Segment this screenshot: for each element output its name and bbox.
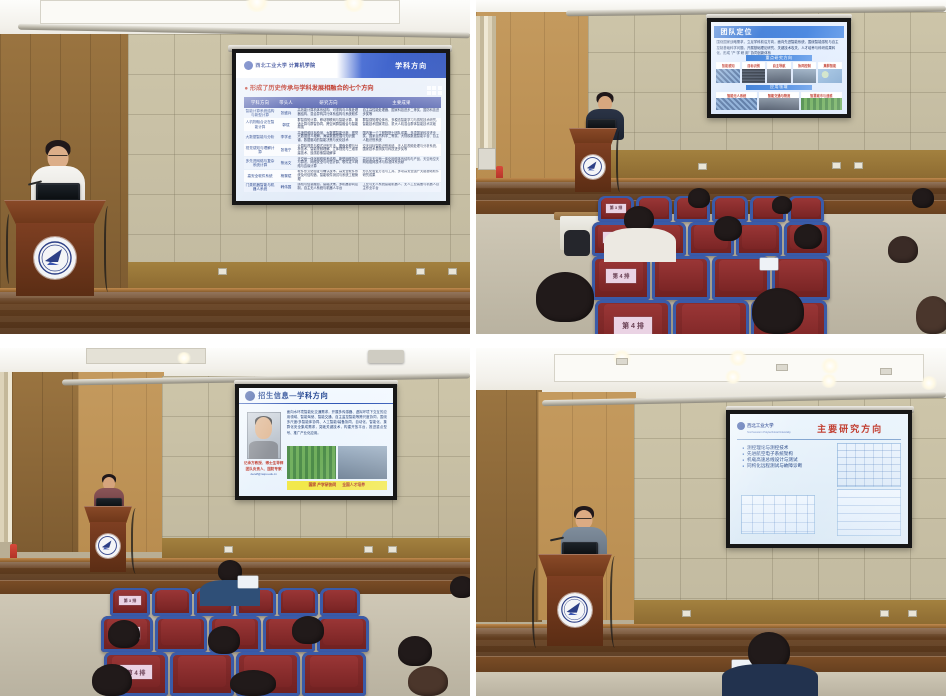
cell-direction: 人机物融合泛在智能计算	[244, 118, 275, 130]
radar-sensing-panel-icon	[716, 69, 740, 83]
audience-head	[92, 664, 132, 696]
photo-collage: 西北工业大学 计算机学院 学科方向 ● 形成了历史传承与学科发展相融合的七个方向…	[0, 0, 946, 696]
table-row: 智能计算系统结构与新型计算 张盛兵 高效能计算机体系结构、可重构与众核处理器结构…	[244, 108, 439, 117]
audience-shoulder	[722, 664, 818, 696]
slide-title: 主要研究方向	[817, 422, 883, 435]
screen-surface: 招生信息—学科方向 记承方教授、博士生导师 团队负责人、国防专家 deceff@…	[239, 388, 393, 496]
seat[interactable]	[652, 256, 710, 300]
decor-squares-icon	[427, 86, 442, 96]
signal-flow-diagram	[741, 495, 816, 534]
wall-base	[162, 538, 470, 560]
audience-head	[912, 188, 934, 208]
nwpu-emblem-icon	[34, 237, 76, 279]
audience-head	[888, 236, 918, 263]
slide-divider	[737, 439, 901, 440]
audience-head	[398, 636, 432, 666]
row-label-card: 第 4 排	[606, 269, 636, 283]
slide-image-row	[287, 446, 387, 478]
table-row: 多先进网络与复杂系统计算 蔡远文 天空地一体化网络体系结构、新型网络协议与算法、…	[244, 157, 439, 169]
test-platform-diagram	[837, 489, 901, 536]
university-logo-icon	[737, 422, 745, 430]
wall-outlet	[854, 162, 863, 169]
traffic-logistics-panel-icon	[759, 98, 799, 110]
slide-card: 智能感知	[716, 62, 740, 82]
uav-system-panel-icon	[716, 98, 756, 110]
seat[interactable]	[673, 300, 749, 334]
seat[interactable]	[788, 196, 824, 222]
slide-card: 智能交通与物流	[759, 92, 799, 110]
wall-outlet	[388, 546, 397, 553]
cell-research: 软件形式化验证与确认技术、高安全软件系统及可信构造、智能软件测试与系统工程管理	[296, 170, 360, 182]
slide-card: 目标识别	[742, 62, 766, 82]
seat[interactable]: 第 4 排	[595, 300, 671, 334]
cell-leader: 郭斌	[276, 118, 296, 130]
podium-top	[538, 554, 612, 578]
wall-outlet	[832, 162, 841, 169]
table-row: 人机物融合泛在智能计算 郭斌 群智感知计算、移动物联网与智能计算、普适计算与群智…	[244, 118, 439, 130]
cell-leader: 张盛兵	[276, 108, 296, 117]
cable	[532, 568, 542, 648]
portrait-caption: 记承方教授、博士生导师 团队负责人、国防专家 deceff@nwpu.edu.c…	[244, 461, 284, 476]
cell-direction: 大数据智能与分析	[244, 131, 275, 143]
slide-discipline-directions: 西北工业大学 计算机学院 学科方向 ● 形成了历史传承与学科发展相融合的七个方向…	[236, 53, 446, 201]
cell-results: 群智感知理论体系、多模态智能学习与感知技术研究、智能技术国家项目、重大人机混合群…	[361, 118, 441, 130]
projector	[368, 350, 404, 363]
seat[interactable]	[736, 222, 782, 256]
air-vent	[880, 368, 892, 375]
slide-card: 自主导航	[767, 62, 791, 82]
audience-head	[450, 576, 470, 598]
seat[interactable]	[155, 616, 207, 652]
nwpu-emblem-icon	[581, 155, 605, 179]
research-bullet-list: 测控理论与测控技术 先进航空电子系统架构 机载高速总线设计与测试 同构化远程测试…	[742, 445, 802, 469]
cell-results: 国内第一个工程院院士团队成果、多项国家科技进步奖、国家自然科学二等奖、大规模数据…	[361, 131, 441, 143]
cell-research: 高速视频目标检测、大数据智能分析、视觉大数据语义理解、海量数据挖掘与知识图谱、数…	[296, 131, 360, 143]
seat[interactable]	[152, 588, 192, 616]
slide-header: 招生信息—学科方向	[239, 388, 393, 404]
downlight-icon	[176, 352, 192, 364]
slide-admissions-info: 招生信息—学科方向 记承方教授、博士生导师 团队负责人、国防专家 deceff@…	[239, 388, 393, 496]
wall-outlet	[218, 268, 227, 275]
university-logo-icon	[244, 61, 253, 70]
cell-results: 高可靠天空地一体化网络体系结构与产品、天空地空天网络组网技术与标准体系贡献	[361, 157, 441, 169]
wall-base	[588, 150, 946, 180]
cable	[616, 130, 626, 192]
cable	[131, 508, 143, 574]
card-row-1: 智能感知 目标识别 自主导航 协同控制	[716, 62, 841, 82]
audience-head	[108, 620, 140, 648]
slide-logo-text: 西北工业大学 计算机学院	[255, 62, 315, 69]
slide-logo: 西北工业大学 计算机学院	[236, 61, 315, 70]
audience-head	[772, 196, 792, 214]
slide-title: 学科方向	[395, 61, 446, 71]
podium-body	[90, 522, 126, 572]
slide-logo: 西北工业大学 Northwestern Polytechnical Univer…	[737, 422, 773, 430]
projector-screen: 西北工业大学 计算机学院 学科方向 ● 形成了历史传承与学科发展相融合的七个方向…	[232, 49, 450, 205]
gutter-horizontal	[0, 334, 946, 348]
swarm-control-panel-icon	[793, 69, 817, 83]
window-curtain	[476, 16, 496, 168]
cell-research: 天空地一体化网络体系结构、新型网络协议与算法、网络安全与可信计算、软件定义网络与…	[296, 157, 360, 169]
table-header-row: 学科方向 带头人 研究方向 主要成果	[244, 97, 439, 107]
screen-surface: 西北工业大学 计算机学院 学科方向 ● 形成了历史传承与学科发展相融合的七个方向…	[236, 53, 446, 201]
cable	[104, 206, 114, 292]
row-label-card: 第 4 排	[614, 317, 652, 334]
slide-subsection-2: 应用领域	[746, 85, 811, 91]
podium	[4, 200, 106, 296]
seat[interactable]	[278, 588, 318, 616]
table-row: 高安全软件系统 杨黎斌 软件形式化验证与确认技术、高安全软件系统及可信构造、智能…	[244, 170, 439, 182]
portrait-shirt	[249, 441, 277, 459]
nwpu-emblem-icon	[96, 534, 120, 558]
cell-direction: 高安全软件系统	[244, 170, 275, 182]
wall-outlet	[448, 268, 457, 275]
slide-header: 西北工业大学 计算机学院 学科方向	[236, 53, 446, 78]
slide-paragraph: 围绕国家战略需求，立足学科前沿方向，面向先进智能系统，围绕智能感知与自主控制基础…	[716, 40, 841, 55]
cell-direction: 门类机器智能与机器人系统	[244, 183, 275, 192]
wall-outlet	[224, 546, 233, 553]
wall-outlet	[880, 610, 889, 617]
cell-leader: 张艳宁	[276, 144, 296, 156]
photo-top-right: 团队定位 围绕国家战略需求，立足学科前沿方向，面向先进智能系统，围绕智能感知与自…	[476, 0, 946, 334]
slide-highlight-strip: 国家 产学研协同 全国人才培养	[287, 481, 387, 490]
city-scene-image	[338, 446, 387, 478]
cell-leader: 杨黎斌	[276, 170, 296, 182]
podium	[569, 128, 617, 192]
tablet	[760, 258, 778, 270]
wall-outlet	[364, 546, 373, 553]
university-logo-icon	[245, 391, 255, 401]
downlight-icon	[920, 376, 938, 390]
wall-outlet	[698, 163, 707, 170]
seat[interactable]	[317, 616, 369, 652]
strip-left-text: 国家 产学研协同	[309, 483, 337, 488]
wall-panel-wood	[12, 372, 80, 552]
wall-base	[128, 262, 470, 290]
slide-subsection-1: 重点研究方向	[746, 55, 811, 61]
slide-bullet-heading: ● 形成了历史传承与学科发展相融合的七个方向	[244, 83, 373, 92]
podium-top	[4, 200, 106, 225]
audience-head	[714, 216, 742, 241]
card-row-2: 智能无人系统 智能交通与物流 智慧城市与遥感	[716, 92, 841, 110]
table-row: 大数据智能与分析 李学龙 高速视频目标检测、大数据智能分析、视觉大数据语义理解、…	[244, 131, 439, 143]
portrait-face	[255, 417, 271, 439]
podium	[84, 506, 132, 572]
downlight-icon	[724, 370, 742, 384]
wall-base	[634, 600, 946, 626]
col-results: 主要成果	[361, 97, 441, 107]
cell-leader: 韩伟国	[276, 183, 296, 192]
speaker-glasses-icon	[49, 155, 68, 158]
cell-direction: 智能计算系统结构与新型计算	[244, 108, 275, 117]
seat[interactable]	[320, 588, 360, 616]
wall-outlet	[682, 610, 691, 617]
cell-results: 空天目标智能识别系统、无人机视频处理与分析系统、国家技术发明奖与科技进步奖等	[361, 144, 441, 156]
strip-right-text: 全国人才培养	[342, 483, 365, 488]
tablet	[238, 576, 258, 588]
slide-title: 团队定位	[714, 26, 845, 38]
slide-card: 智慧城市与遥感	[801, 92, 841, 110]
seat[interactable]: 第 4 排	[592, 256, 650, 300]
screen-surface: 团队定位 围绕国家战略需求，立足学科前沿方向，面向先进智能系统，围绕智能感知与自…	[711, 22, 847, 114]
slide-logo-subtext: Northwestern Polytechnical University	[747, 431, 791, 434]
audience-head	[292, 616, 324, 644]
cell-results: 形式化验证方法与工具、多项高安全国产关键基础软件研究成果	[361, 170, 441, 182]
audience-head	[208, 626, 240, 654]
podium-body	[547, 576, 603, 646]
cell-leader: 蔡远文	[276, 157, 296, 169]
cell-results: 工业与无人系统智能机器人、无人工业装备与机器人自主作业平台	[361, 183, 441, 192]
cell-research: 高效能计算机体系结构、可重构与众核处理器结构、混合异构并行体系结构与系统软件	[296, 108, 360, 117]
slide-card: 集群智能	[818, 62, 842, 82]
air-vent	[478, 148, 496, 170]
wall-outlet	[416, 268, 425, 275]
slide-team-positioning: 团队定位 围绕国家战略需求，立足学科前沿方向，面向先进智能系统，围绕智能感知与自…	[711, 22, 847, 114]
audience-head	[794, 224, 822, 249]
terrain-map-image	[287, 446, 336, 478]
audience-head	[688, 188, 710, 208]
discipline-table: 学科方向 带头人 研究方向 主要成果 智能计算系统结构与新型计算 张盛兵 高效能…	[244, 97, 439, 192]
col-direction: 学科方向	[244, 97, 275, 107]
table-row: 门类机器智能与机器人系统 韩伟国 感知与信息融合、智能决策、多机器协同控制、自主…	[244, 183, 439, 192]
backpack	[564, 230, 590, 256]
projector-screen: 招生信息—学科方向 记承方教授、博士生导师 团队负责人、国防专家 deceff@…	[235, 384, 397, 500]
downlight-icon	[820, 358, 840, 374]
smart-city-panel-icon	[801, 98, 841, 110]
air-vent	[616, 358, 628, 365]
podium-top	[569, 128, 617, 145]
downlight-icon	[728, 350, 748, 366]
laptop-screen	[38, 185, 78, 199]
seat[interactable]	[302, 652, 366, 696]
bullet-item: 同构化远程测试与故障诊断	[742, 463, 802, 469]
cell-research: 感知与信息融合、智能决策、多机器协同控制、自主无人系统与机器人平台	[296, 183, 360, 192]
caption-email: deceff@nwpu.edu.cn	[244, 472, 284, 476]
projector-screen: 团队定位 围绕国家战略需求，立足学科前沿方向，面向先进智能系统，围绕智能感知与自…	[707, 18, 851, 118]
col-leader: 带头人	[276, 97, 296, 107]
professor-portrait	[247, 412, 281, 460]
cable	[6, 214, 14, 284]
system-architecture-diagram	[837, 443, 901, 487]
cluster-intel-panel-icon	[818, 69, 842, 83]
photo-top-left: 西北工业大学 计算机学院 学科方向 ● 形成了历史传承与学科发展相融合的七个方向…	[0, 0, 470, 334]
row-label-card: 第 3 排	[606, 204, 626, 213]
photo-bottom-left: 招生信息—学科方向 记承方教授、博士生导师 团队负责人、国防专家 deceff@…	[0, 348, 470, 696]
row-label-card: 第 3 排	[119, 596, 141, 605]
detection-grid-panel-icon	[742, 69, 766, 83]
podium-body	[575, 143, 611, 192]
screen-surface: 西北工业大学 Northwestern Polytechnical Univer…	[730, 414, 908, 544]
audience-head	[230, 670, 276, 696]
cell-direction: 多先进网络与复杂系统计算	[244, 157, 275, 169]
stage-floor	[0, 292, 470, 334]
seat[interactable]	[170, 652, 234, 696]
cell-research: 群智感知计算、移动物联网与智能计算、普适计算与群智协同、跨空间群智融合与智能增强	[296, 118, 360, 130]
podium-top	[84, 506, 132, 523]
slide-research-directions: 西北工业大学 Northwestern Polytechnical Univer…	[730, 414, 908, 544]
audience-shoulder	[604, 228, 676, 262]
cell-leader: 李学龙	[276, 131, 296, 143]
cable	[610, 556, 622, 648]
wall-outlet	[908, 610, 917, 617]
slide-body-text: 面向水环境智能化交通需求，开展多传感器、虚拟环境下交互的应用领域、智能驾驶、智能…	[287, 410, 387, 436]
downlight-icon	[820, 374, 838, 388]
speaker-glasses-icon	[577, 518, 592, 521]
audience-head	[752, 288, 804, 334]
slide-card: 智能无人系统	[716, 92, 756, 110]
podium	[538, 554, 612, 646]
house-floor	[476, 672, 946, 696]
slide-title: 招生信息—学科方向	[258, 391, 328, 401]
cell-research: 计算机视觉与模式识别方法、图像处理与分析技术、智能视频理解、立体视觉与三维重建技…	[296, 144, 360, 156]
audience-head	[536, 272, 594, 322]
slide-logo-text: 西北工业大学	[747, 423, 773, 429]
nwpu-emblem-icon	[558, 593, 592, 627]
table-row: 视觉感知与理解计算 张艳宁 计算机视觉与模式识别方法、图像处理与分析技术、智能视…	[244, 144, 439, 156]
navigation-road-panel-icon	[767, 69, 791, 83]
cell-results: 自主高性能处理器、国家科技进步二等奖、国防科技进步奖等	[361, 108, 441, 117]
projector-screen: 西北工业大学 Northwestern Polytechnical Univer…	[726, 410, 912, 548]
air-vent	[776, 364, 788, 371]
audience-head	[916, 296, 946, 334]
photo-bottom-right: 西北工业大学 Northwestern Polytechnical Univer…	[476, 348, 946, 696]
col-research: 研究方向	[296, 97, 360, 107]
seat[interactable]: 第 3 排	[110, 588, 150, 616]
slide-card: 协同控制	[793, 62, 817, 82]
audience-head	[408, 666, 448, 696]
cell-direction: 视觉感知与理解计算	[244, 144, 275, 156]
podium-body	[16, 223, 94, 296]
